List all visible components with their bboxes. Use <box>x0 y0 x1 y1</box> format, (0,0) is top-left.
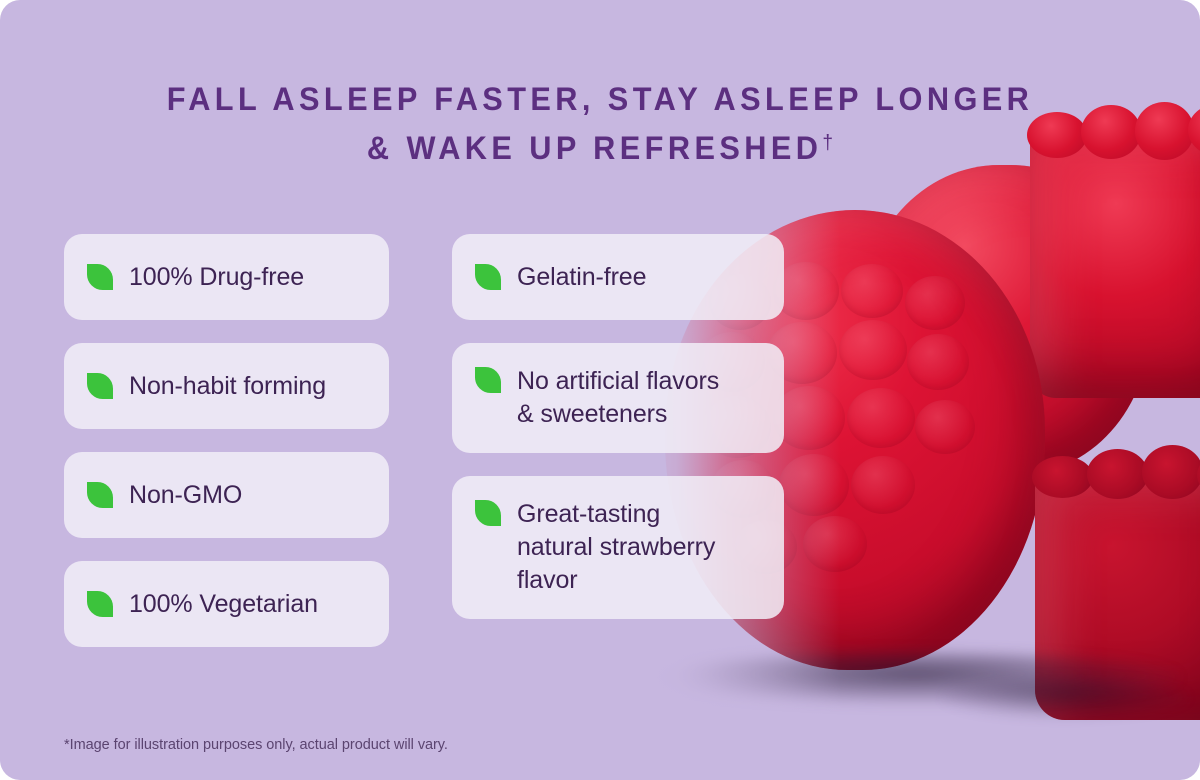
feature-pill-gelatin-free: Gelatin-free <box>452 234 784 320</box>
product-shadow-secondary <box>940 678 1190 718</box>
footnote-disclaimer: *Image for illustration purposes only, a… <box>64 737 448 753</box>
leaf-icon <box>475 367 501 393</box>
leaf-icon <box>87 591 113 617</box>
feature-label: 100% Drug-free <box>129 261 304 294</box>
feature-pill-non-habit-forming: Non-habit forming <box>64 343 389 429</box>
feature-label: 100% Vegetarian <box>129 588 318 621</box>
feature-label-line: Great-tasting <box>517 500 660 528</box>
dagger-symbol: † <box>822 132 833 154</box>
leaf-icon <box>475 264 501 290</box>
scallop-edge <box>1035 444 1200 502</box>
headline-line-2-text: & wake up refreshed <box>367 130 822 166</box>
headline-line-1: Fall asleep faster, stay asleep longer <box>24 77 1176 121</box>
feature-column-left: 100% Drug-free Non-habit forming Non-GMO… <box>64 234 389 647</box>
leaf-icon <box>87 264 113 290</box>
page-title: Fall asleep faster, stay asleep longer &… <box>24 77 1176 170</box>
feature-label-line: Gelatin-free <box>517 263 646 291</box>
feature-label-line: No artificial flavors <box>517 367 719 395</box>
feature-pill-strawberry-flavor: Great-tasting natural strawberry flavor <box>452 476 784 619</box>
feature-label: Non-habit forming <box>129 370 326 403</box>
feature-label: No artificial flavors & sweeteners <box>517 365 719 431</box>
feature-pill-non-gmo: Non-GMO <box>64 452 389 538</box>
feature-label: Non-GMO <box>129 479 242 512</box>
feature-label: Great-tasting natural strawberry flavor <box>517 498 715 597</box>
leaf-icon <box>87 482 113 508</box>
feature-pill-vegetarian: 100% Vegetarian <box>64 561 389 647</box>
feature-pill-drug-free: 100% Drug-free <box>64 234 389 320</box>
leaf-icon <box>475 500 501 526</box>
feature-list: 100% Drug-free Non-habit forming Non-GMO… <box>64 234 784 647</box>
feature-pill-no-artificial-flavors: No artificial flavors & sweeteners <box>452 343 784 453</box>
feature-label: Gelatin-free <box>517 261 646 294</box>
feature-label-line: natural strawberry <box>517 533 715 561</box>
feature-label-line: flavor <box>517 566 578 594</box>
feature-column-right: Gelatin-free No artificial flavors & swe… <box>452 234 784 647</box>
promo-banner: Fall asleep faster, stay asleep longer &… <box>0 0 1200 780</box>
leaf-icon <box>87 373 113 399</box>
headline-line-2: & wake up refreshed† <box>24 121 1176 170</box>
feature-label-line: & sweeteners <box>517 400 667 428</box>
